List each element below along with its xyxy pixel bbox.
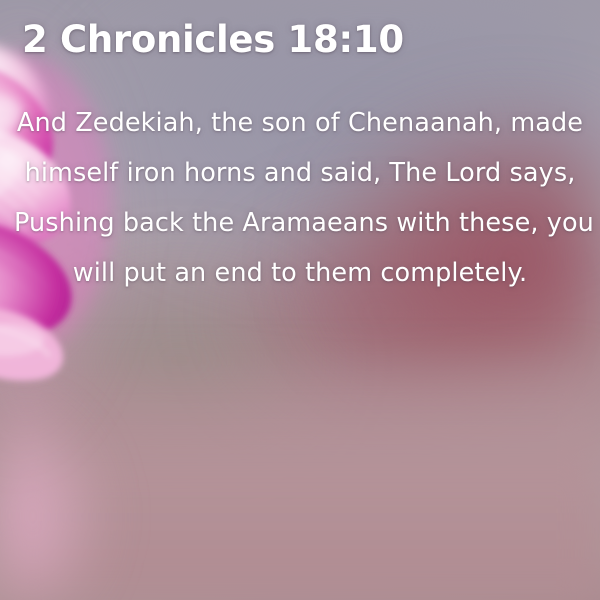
background-pink-low-bloom [0,0,600,600]
verse-line: himself iron horns and said, The Lord sa… [14,148,586,198]
verse-line: And Zedekiah, the son of Chenaanah, made [14,98,586,148]
background-rose-floor [0,348,600,600]
background-pink-halo [0,0,600,600]
background-base-gradient [0,0,600,600]
background-wine-blur [0,0,600,600]
background-wine-blur-inner [0,0,600,600]
background-grey-wash [0,0,600,600]
background-sage-haze [0,0,600,600]
verse-text-block: And Zedekiah, the son of Chenaanah, made… [0,98,600,298]
scripture-reference-title: 2 Chronicles 18:10 [22,18,404,61]
verse-line: will put an end to them completely. [14,248,586,298]
petal-bottom-tip [0,308,63,381]
verse-image-canvas: 2 Chronicles 18:10 And Zedekiah, the son… [0,0,600,600]
verse-line: Pushing back the Aramaeans with these, y… [14,198,586,248]
